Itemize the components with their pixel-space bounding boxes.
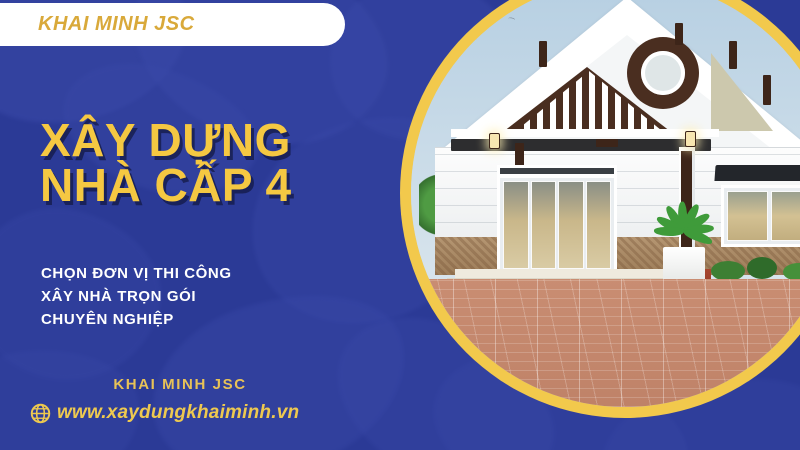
subheading-line-2: XÂY NHÀ TRỌN GÓI [41, 286, 232, 309]
front-window [721, 185, 800, 247]
website-url[interactable]: www.xaydungkhaiminh.vn [57, 402, 299, 424]
house-photo-circle [400, 0, 800, 418]
subheading: CHỌN ĐƠN VỊ THI CÔNG XÂY NHÀ TRỌN GÓI CH… [41, 263, 232, 331]
round-vent-medallion [627, 37, 699, 109]
window-awning [714, 165, 800, 181]
front-door [497, 175, 617, 275]
logo-pill: KHAI MINH JSC [0, 3, 345, 46]
headline-line-1: XÂY DỰNG [40, 118, 292, 163]
planter-pot [663, 247, 705, 283]
headline-line-2: NHÀ CẤP 4 [40, 163, 292, 208]
footer: KHAI MINH JSC www.xaydungkhaiminh.vn [0, 376, 400, 424]
website-row[interactable]: www.xaydungkhaiminh.vn [30, 402, 400, 424]
house-photo [411, 0, 800, 407]
globe-icon [30, 403, 51, 424]
promo-banner: KHAI MINH JSC XÂY DỰNG NHÀ CẤP 4 CHỌN ĐƠ… [0, 0, 800, 450]
logo-text: KHAI MINH JSC [38, 13, 195, 36]
wall-lamp-icon [489, 133, 500, 149]
palm-plant [659, 201, 713, 253]
subheading-line-3: CHUYÊN NGHIỆP [41, 309, 232, 332]
wall-lamp-icon [685, 131, 696, 147]
subheading-line-1: CHỌN ĐƠN VỊ THI CÔNG [41, 263, 232, 286]
brick-paving [411, 279, 800, 407]
page-title: XÂY DỰNG NHÀ CẤP 4 [40, 118, 292, 208]
footer-company-name: KHAI MINH JSC [0, 376, 400, 393]
